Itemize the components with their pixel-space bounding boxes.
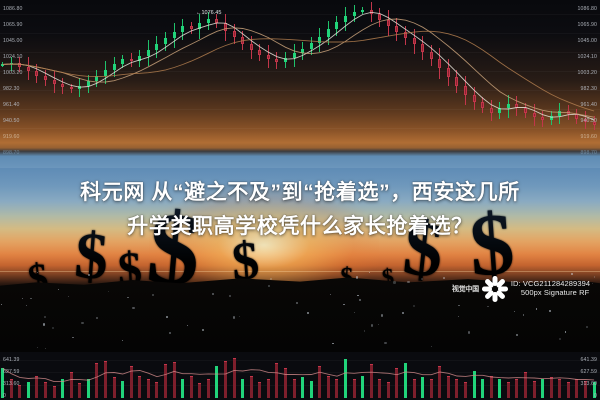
axis-tick-label: 982.30 xyxy=(581,86,597,92)
axis-tick-label: 961.40 xyxy=(581,102,597,108)
axis-tick-label: 313.60 xyxy=(581,381,597,387)
dollar-sign-icon: $ xyxy=(400,208,447,290)
light-speck xyxy=(384,342,386,344)
light-speck xyxy=(371,324,373,326)
light-speck xyxy=(45,348,46,349)
light-speck xyxy=(565,331,567,333)
axis-tick-label: 1086.80 xyxy=(578,6,597,12)
light-speck xyxy=(523,314,524,315)
light-speck xyxy=(30,298,31,299)
axis-tick-label: 627.59 xyxy=(581,369,597,375)
light-speck xyxy=(239,316,240,317)
axis-tick-label: 961.40 xyxy=(3,102,19,108)
axis-tick-label: 982.30 xyxy=(3,86,19,92)
light-speck xyxy=(559,338,561,340)
moving-average-line xyxy=(3,31,594,111)
light-speck xyxy=(343,304,344,305)
price-chart-top: ←1076.45 1086.801065.901045.001024.10100… xyxy=(0,0,600,168)
light-speck xyxy=(233,316,235,318)
light-speck xyxy=(127,297,129,299)
light-speck xyxy=(536,308,538,310)
light-speck xyxy=(122,340,123,341)
watermark: 视觉中国 ID: VCG211284289394 500px Signature… xyxy=(452,276,590,302)
light-speck xyxy=(443,277,445,279)
axis-tick-label: 898.70 xyxy=(3,150,19,156)
axis-tick-label: 627.59 xyxy=(3,369,19,375)
light-speck xyxy=(549,310,551,312)
light-speck xyxy=(407,281,409,283)
price-annotation: ←1076.45 xyxy=(196,10,221,16)
axis-tick-label: 0 xyxy=(594,393,597,399)
light-speck xyxy=(571,273,573,275)
axis-tick-label: 919.60 xyxy=(3,134,19,140)
dollar-sign-icon: $ xyxy=(73,223,111,291)
axis-tick-label: 641.39 xyxy=(3,357,19,363)
volume-trend-line xyxy=(3,368,594,382)
light-speck xyxy=(132,307,134,309)
axis-tick-label: 1065.90 xyxy=(578,22,597,28)
watermark-brand-label: 视觉中国 xyxy=(452,284,479,294)
light-speck xyxy=(1,304,2,305)
volume-chart-bottom: 641.39627.59313.600 641.39627.59313.600 xyxy=(0,352,600,400)
axis-tick-label: 1045.00 xyxy=(578,38,597,44)
axis-tick-label: 641.39 xyxy=(581,357,597,363)
axis-tick-label: 1024.10 xyxy=(3,54,22,60)
axis-tick-label: 0 xyxy=(3,393,6,399)
axis-tick-label: 919.60 xyxy=(581,134,597,140)
axis-tick-label: 898.70 xyxy=(581,150,597,156)
light-speck xyxy=(594,276,595,277)
light-speck xyxy=(586,326,588,328)
light-speck xyxy=(58,289,59,290)
light-speck xyxy=(37,272,38,273)
sunset-photo: $$$$$$$$$ xyxy=(0,168,600,352)
light-speck xyxy=(356,276,358,278)
axis-tick-label: 1086.80 xyxy=(3,6,22,12)
light-speck xyxy=(270,278,272,280)
light-speck xyxy=(369,272,370,273)
axis-tick-label: 940.50 xyxy=(3,118,19,124)
light-speck xyxy=(187,325,188,326)
light-speck xyxy=(393,281,395,283)
light-speck xyxy=(22,298,23,299)
watermark-license: 500px Signature RF xyxy=(511,289,590,298)
axis-tick-label: 1003.20 xyxy=(3,70,22,76)
light-speck xyxy=(166,316,168,318)
axis-tick-label: 1045.00 xyxy=(3,38,22,44)
axis-tick-label: 1024.10 xyxy=(578,54,597,60)
axis-tick-label: 313.60 xyxy=(3,381,19,387)
light-speck xyxy=(458,316,459,317)
light-speck xyxy=(88,274,90,276)
axis-tick-label: 1065.90 xyxy=(3,22,22,28)
light-speck xyxy=(202,329,204,331)
moving-average-line xyxy=(3,19,594,117)
axis-tick-label: 940.50 xyxy=(581,118,597,124)
screenshot-root: ←1076.45 1086.801065.901045.001024.10100… xyxy=(0,0,600,400)
axis-tick-label: 1003.20 xyxy=(578,70,597,76)
light-speck xyxy=(378,324,379,325)
vcg-starburst-logo-icon xyxy=(482,276,508,302)
light-speck xyxy=(487,306,488,307)
watermark-text: ID: VCG211284289394 500px Signature RF xyxy=(511,280,590,298)
